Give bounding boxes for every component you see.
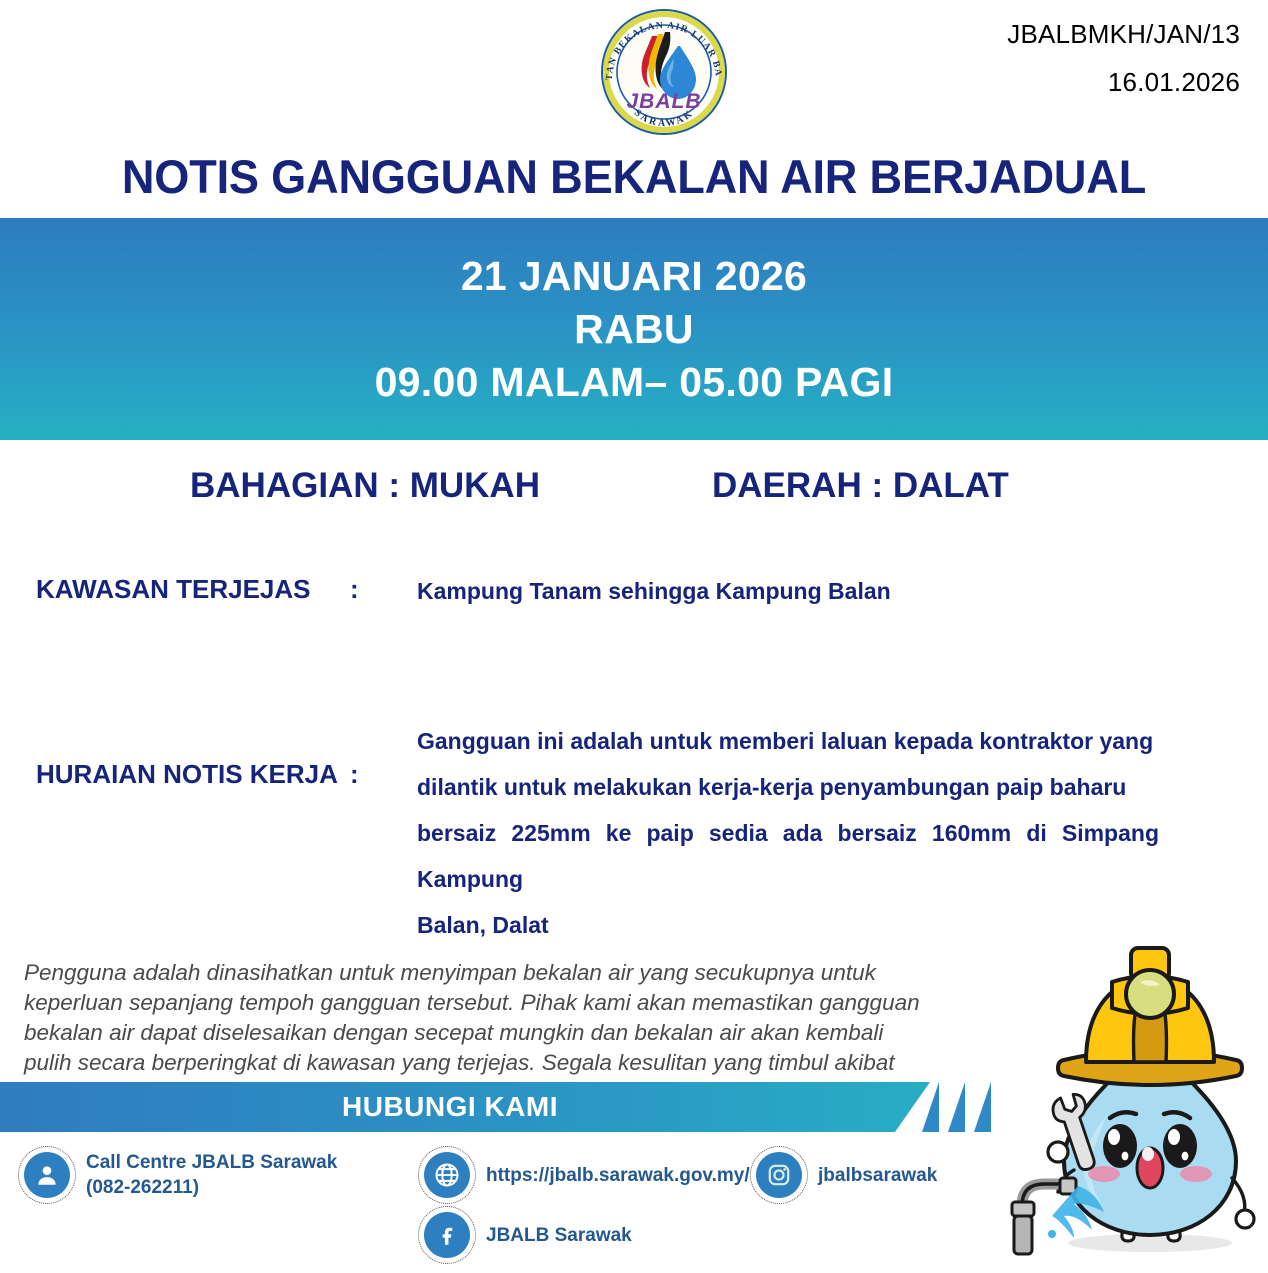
contact-line-1: https://jbalb.sarawak.gov.my/ <box>486 1163 750 1188</box>
instagram-icon <box>756 1152 802 1198</box>
globe-icon <box>424 1152 470 1198</box>
icon-ring <box>750 1146 808 1204</box>
page-title: NOTIS GANGGUAN BEKALAN AIR BERJADUAL <box>25 149 1242 204</box>
notice-page: JABATAN BEKALAN AIR LUAR BANDAR SARAWAK … <box>0 0 1268 1268</box>
reference-block: JBALBMKH/JAN/13 16.01.2026 <box>1007 10 1240 106</box>
reference-number: JBALBMKH/JAN/13 <box>1007 10 1240 58</box>
contact-line-1: Call Centre JBALB Sarawak <box>86 1150 337 1175</box>
banner-day: RABU <box>574 303 694 356</box>
work-description-value: Gangguan ini adalah untuk memberi laluan… <box>417 718 1159 948</box>
affected-area-colon: : <box>350 574 359 605</box>
banner-date: 21 JANUARI 2026 <box>461 250 807 303</box>
contact-line-2: (082-262211) <box>86 1175 337 1200</box>
division-label: BAHAGIAN : MUKAH <box>190 466 540 506</box>
schedule-banner: 21 JANUARI 2026 RABU 09.00 MALAM– 05.00 … <box>0 218 1268 440</box>
icon-ring <box>18 1146 76 1204</box>
district-label: DAERAH : DALAT <box>712 466 1009 506</box>
contact-facebook-text: JBALB Sarawak <box>486 1223 632 1248</box>
contact-bar-title: HUBUNGI KAMI <box>0 1082 900 1132</box>
work-description-label: HURAIAN NOTIS KERJA <box>36 759 338 790</box>
jbalb-logo: JABATAN BEKALAN AIR LUAR BANDAR SARAWAK … <box>594 2 734 142</box>
page-header: JABATAN BEKALAN AIR LUAR BANDAR SARAWAK … <box>0 0 1268 150</box>
work-description-line: Gangguan ini adalah untuk memberi laluan… <box>417 718 1159 764</box>
contact-instagram-text: jbalbsarawak <box>818 1163 937 1188</box>
contact-call-centre-text: Call Centre JBALB Sarawak (082-262211) <box>86 1150 337 1200</box>
contact-facebook[interactable]: JBALB Sarawak <box>424 1212 632 1258</box>
contact-line-1: jbalbsarawak <box>818 1163 937 1188</box>
contact-line-1: JBALB Sarawak <box>486 1223 632 1248</box>
decorative-slash-icon <box>948 1082 965 1132</box>
work-description-line: bersaiz 225mm ke paip sedia ada bersaiz … <box>417 810 1159 902</box>
facebook-icon <box>424 1212 470 1258</box>
contact-website-text: https://jbalb.sarawak.gov.my/ <box>486 1163 750 1188</box>
affected-area-value: Kampung Tanam sehingga Kampung Balan <box>417 578 891 605</box>
work-description-colon: : <box>350 759 359 790</box>
affected-area-label: KAWASAN TERJEJAS <box>36 574 311 605</box>
work-description-line: dilantik untuk melakukan kerja-kerja pen… <box>417 764 1159 810</box>
svg-text:JBALB: JBALB <box>626 90 701 113</box>
water-droplet-mascot <box>1000 938 1268 1268</box>
contact-instagram[interactable]: jbalbsarawak <box>756 1152 937 1198</box>
contact-website[interactable]: https://jbalb.sarawak.gov.my/ <box>424 1152 750 1198</box>
person-icon <box>24 1152 70 1198</box>
contact-call-centre[interactable]: Call Centre JBALB Sarawak (082-262211) <box>24 1150 337 1200</box>
icon-ring <box>418 1206 476 1264</box>
banner-time: 09.00 MALAM– 05.00 PAGI <box>375 356 894 409</box>
decorative-slash-icon <box>974 1082 991 1132</box>
issue-date: 16.01.2026 <box>1007 58 1240 106</box>
icon-ring <box>418 1146 476 1204</box>
